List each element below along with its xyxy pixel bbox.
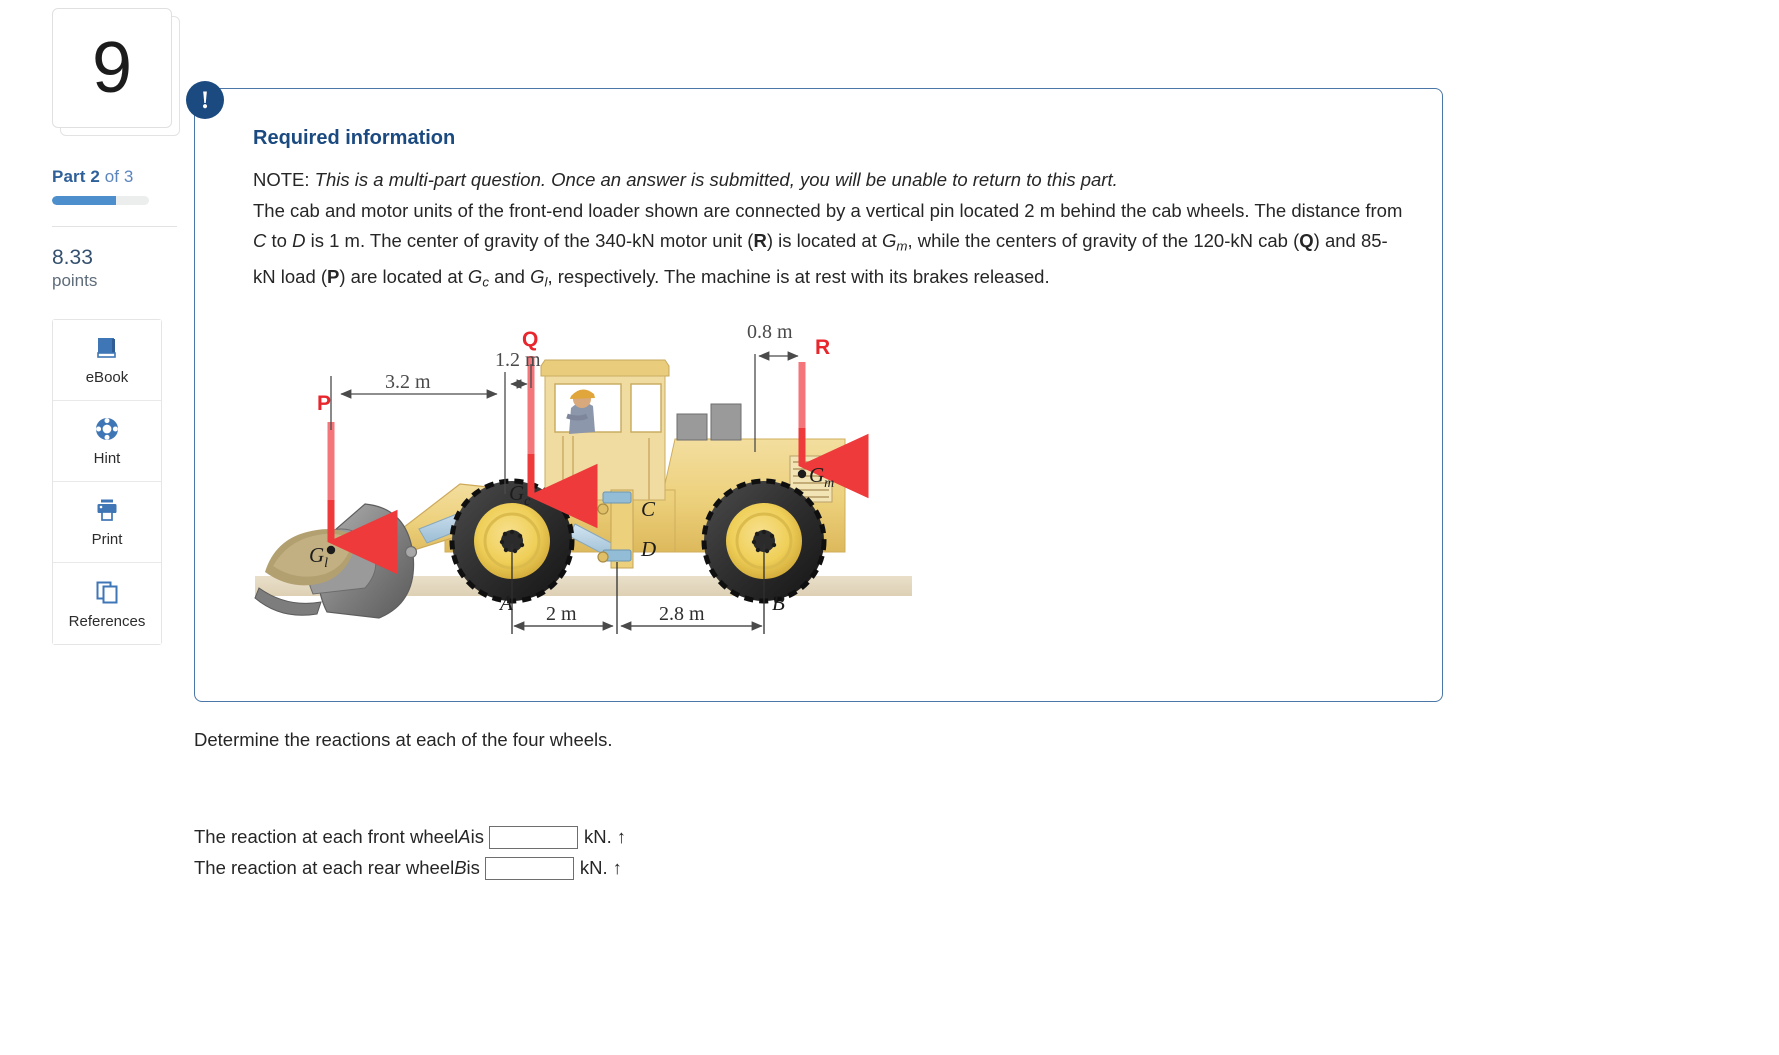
gc-sub: c: [482, 275, 489, 290]
exclamation-icon: !: [186, 81, 224, 119]
points-value: 8.33: [52, 246, 198, 270]
answer-arrow-a: ↑: [617, 826, 626, 848]
hint-button[interactable]: Hint: [53, 401, 161, 482]
dim-label-3-2m: 3.2 m: [385, 371, 431, 393]
dim-label-1-2m: 1.2 m: [495, 349, 541, 371]
book-icon: [93, 334, 121, 362]
loader-bucket: [255, 504, 417, 618]
exclamation-glyph: !: [201, 88, 209, 113]
gm-sub: m: [896, 239, 907, 254]
gl-marker: [327, 546, 335, 554]
hint-label: Hint: [94, 450, 121, 467]
driver-figure: [567, 389, 595, 434]
para-1h: and: [489, 266, 530, 287]
point-label-d: D: [640, 537, 656, 561]
copy-pages-icon: [93, 578, 121, 606]
point-label-a: A: [498, 591, 513, 615]
gl-base: G: [530, 266, 544, 287]
gm-base: G: [882, 230, 896, 251]
print-button[interactable]: Print: [53, 482, 161, 563]
sidebar-divider: [52, 226, 177, 227]
question-text: NOTE: This is a multi-part question. Onc…: [253, 165, 1403, 298]
para-1e: , while the centers of gravity of the 12…: [907, 230, 1299, 251]
determine-prompt: Determine the reactions at each of the f…: [194, 729, 613, 751]
part-progress-bar: [52, 196, 149, 205]
answer-row-rear-wheel-b: The reaction at each rear wheel B is kN.…: [194, 854, 626, 882]
answer-unit-b: kN.: [580, 857, 608, 879]
print-label: Print: [92, 531, 123, 548]
answer-label-b-prefix: The reaction at each rear wheel: [194, 857, 454, 879]
dim-label-2m: 2 m: [546, 603, 577, 625]
question-number-card: 9: [52, 8, 180, 136]
part-indicator: Part 2 of 3: [52, 167, 198, 187]
references-label: References: [69, 613, 146, 630]
question-number-value: 9: [52, 8, 172, 128]
answer-input-front-wheel-a[interactable]: [489, 826, 578, 849]
printer-icon: [93, 496, 121, 524]
answer-var-b: B: [454, 857, 466, 879]
answer-label-b-suffix: is: [467, 857, 480, 879]
ebook-label: eBook: [86, 369, 129, 386]
answer-row-front-wheel-a: The reaction at each front wheel A is kN…: [194, 823, 626, 851]
force-label-r: R: [815, 336, 830, 359]
sidebar-tool-list: eBook Hint: [52, 319, 162, 645]
lifebuoy-icon: [93, 415, 121, 443]
part-progress-fill: [52, 196, 116, 205]
points-label: points: [52, 270, 198, 292]
answer-arrow-b: ↑: [613, 857, 622, 879]
point-label-b: B: [772, 591, 785, 615]
bold-q: Q: [1299, 230, 1313, 251]
var-c: C: [253, 230, 266, 251]
answer-block: The reaction at each front wheel A is kN…: [194, 823, 626, 885]
point-label-c: C: [641, 497, 656, 521]
gc-base: G: [468, 266, 482, 287]
dim-label-2-8m: 2.8 m: [659, 603, 705, 625]
dim-label-0-8m: 0.8 m: [747, 321, 793, 343]
gm-marker: [798, 470, 806, 478]
para-1g: ) are located at: [339, 266, 468, 287]
bold-r: R: [753, 230, 766, 251]
force-label-p: P: [317, 392, 331, 415]
references-button[interactable]: References: [53, 563, 161, 644]
para-1a: The cab and motor units of the front-end…: [253, 200, 1402, 221]
note-prefix: NOTE:: [253, 169, 310, 190]
required-information-title: Required information: [253, 127, 455, 150]
top-dimension-group: [331, 364, 531, 494]
para-1i: , respectively. The machine is at rest w…: [547, 266, 1049, 287]
question-sidebar: 9 Part 2 of 3 8.33 points eBook: [48, 8, 198, 645]
answer-label-a-prefix: The reaction at each front wheel: [194, 826, 458, 848]
note-italic: This is a multi-part question. Once an a…: [315, 169, 1118, 190]
para-1c: is 1 m. The center of gravity of the 340…: [305, 230, 753, 251]
question-page: 9 Part 2 of 3 8.33 points eBook: [0, 0, 1779, 1055]
answer-unit-a: kN.: [584, 826, 612, 848]
loader-diagram-svg: P Q R 3.2 m 1.2 m 0.8 m: [245, 304, 1245, 664]
part-total: of 3: [105, 167, 134, 186]
ebook-button[interactable]: eBook: [53, 320, 161, 401]
para-1b: to: [266, 230, 292, 251]
part-current: 2: [90, 167, 100, 186]
answer-input-rear-wheel-b[interactable]: [485, 857, 574, 880]
answer-var-a: A: [458, 826, 470, 848]
bold-p: P: [327, 266, 339, 287]
required-information-card: Required information NOTE: This is a mul…: [194, 88, 1443, 702]
var-d: D: [292, 230, 305, 251]
part-word: Part: [52, 167, 85, 186]
dim-0-8m-group: [755, 354, 798, 452]
force-label-q: Q: [522, 328, 538, 351]
answer-label-a-suffix: is: [471, 826, 484, 848]
para-1d: ) is located at: [767, 230, 882, 251]
front-end-loader-figure: P Q R 3.2 m 1.2 m 0.8 m: [245, 304, 1245, 664]
